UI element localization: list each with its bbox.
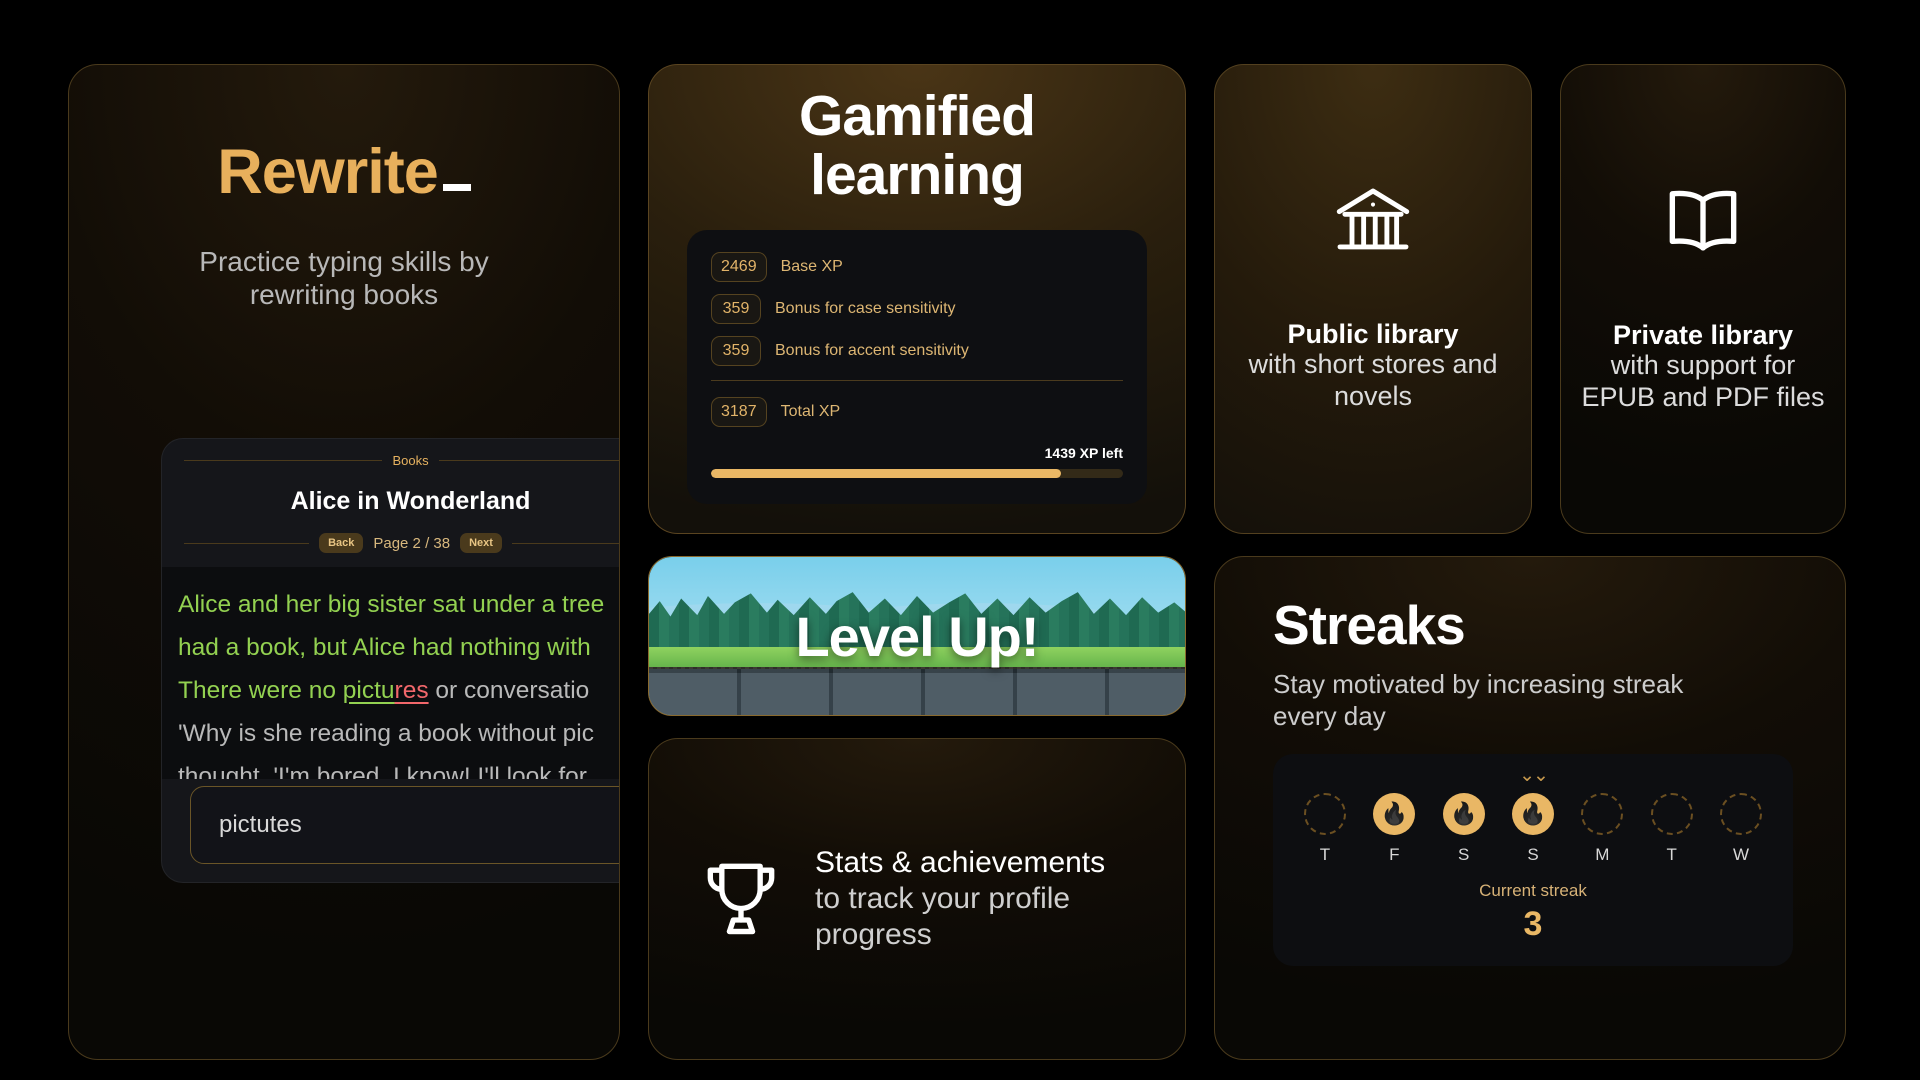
level-up-banner: Level Up! bbox=[648, 556, 1186, 716]
private-library-title: Private library bbox=[1613, 320, 1793, 350]
stats-title: Stats & achievements bbox=[815, 845, 1145, 881]
reader-line: 'Why is she reading a book without pic bbox=[178, 712, 620, 755]
stats-subtitle: to track your profile progress bbox=[815, 881, 1145, 953]
streak-day[interactable]: 🔥S bbox=[1438, 793, 1490, 865]
streak-day-label: F bbox=[1368, 845, 1420, 865]
private-library-subtitle: with support for EPUB and PDF files bbox=[1579, 350, 1827, 414]
hero-tagline: Practice typing skills by rewriting book… bbox=[144, 246, 544, 312]
xp-row: 359Bonus for accent sensitivity bbox=[711, 336, 1123, 366]
streak-day-inactive bbox=[1581, 793, 1623, 835]
private-library-card[interactable]: Private library with support for EPUB an… bbox=[1560, 64, 1846, 534]
streak-day-active: 🔥 bbox=[1443, 793, 1485, 835]
reader-token-error-underline: res bbox=[395, 677, 429, 704]
reader-line: Alice and her big sister sat under a tre… bbox=[178, 583, 620, 626]
streaks-content: Streaks Stay motivated by increasing str… bbox=[1215, 557, 1845, 966]
rail-line-left bbox=[184, 460, 382, 461]
reader-rail-label: Books bbox=[392, 453, 428, 468]
private-library-content: Private library with support for EPUB an… bbox=[1561, 65, 1845, 533]
reader-nav: Back Page 2 / 38 Next bbox=[162, 533, 620, 553]
page-indicator: Page 2 / 38 bbox=[373, 535, 450, 552]
xp-total-row: 3187 Total XP bbox=[711, 397, 1123, 427]
stats-text: Stats & achievements to track your profi… bbox=[815, 845, 1145, 953]
xp-breakdown-panel: 2469Base XP359Bonus for case sensitivity… bbox=[687, 230, 1147, 504]
xp-value: 359 bbox=[711, 294, 761, 324]
reader-token-pending: thought. 'I'm bored. I know! I'll look f… bbox=[178, 763, 587, 779]
public-library-content: Public library with short stores and nov… bbox=[1215, 65, 1531, 533]
page-root: Rewrite Practice typing skills by rewrit… bbox=[0, 0, 1920, 1080]
reader-line: had a book, but Alice had nothing with bbox=[178, 626, 620, 669]
streaks-subtitle: Stay motivated by increasing streak ever… bbox=[1273, 669, 1713, 732]
streaks-card: Streaks Stay motivated by increasing str… bbox=[1214, 556, 1846, 1060]
xp-total-label: Total XP bbox=[781, 403, 841, 421]
typing-input[interactable]: pictutes bbox=[190, 786, 620, 864]
current-streak-label: Current streak bbox=[1299, 881, 1767, 901]
streak-day[interactable]: 🔥S bbox=[1507, 793, 1559, 865]
reader-token-correct-underline: pictu bbox=[343, 677, 395, 704]
trophy-icon bbox=[695, 851, 787, 948]
text-cursor-icon bbox=[443, 184, 471, 191]
streak-day[interactable]: W bbox=[1715, 793, 1767, 865]
reader-rail-wrap: Books bbox=[162, 439, 620, 468]
level-up-text: Level Up! bbox=[649, 557, 1185, 715]
xp-left-label: 1439 XP left bbox=[711, 445, 1123, 461]
reader-token-correct: There were no bbox=[178, 677, 343, 704]
rail-line-right bbox=[439, 460, 620, 461]
flame-icon: 🔥 bbox=[1519, 803, 1546, 825]
streak-day[interactable]: M bbox=[1576, 793, 1628, 865]
xp-value: 359 bbox=[711, 336, 761, 366]
reader-rail: Books bbox=[184, 453, 620, 468]
feature-grid: Rewrite Practice typing skills by rewrit… bbox=[68, 64, 1852, 1016]
hero-card: Rewrite Practice typing skills by rewrit… bbox=[68, 64, 620, 1060]
streak-day[interactable]: T bbox=[1646, 793, 1698, 865]
xp-label: Bonus for case sensitivity bbox=[775, 300, 956, 318]
streak-panel: ⌄⌄ T🔥F🔥S🔥SMTW Current streak 3 bbox=[1273, 754, 1793, 966]
nav-line-right bbox=[512, 543, 620, 544]
streak-day[interactable]: T bbox=[1299, 793, 1351, 865]
streak-day-inactive bbox=[1304, 793, 1346, 835]
reader-line: thought. 'I'm bored. I know! I'll look f… bbox=[178, 755, 620, 779]
streak-day-label: S bbox=[1507, 845, 1559, 865]
reader-text-body: Alice and her big sister sat under a tre… bbox=[162, 567, 620, 779]
flame-icon: 🔥 bbox=[1450, 803, 1477, 825]
streak-day-label: T bbox=[1299, 845, 1351, 865]
xp-rows: 2469Base XP359Bonus for case sensitivity… bbox=[711, 252, 1123, 366]
xp-divider bbox=[711, 380, 1123, 381]
current-streak-value: 3 bbox=[1299, 905, 1767, 944]
reader-preview: Books Alice in Wonderland Back Page 2 / … bbox=[161, 438, 620, 883]
open-book-icon bbox=[1657, 175, 1749, 272]
streak-day-label: S bbox=[1438, 845, 1490, 865]
xp-progress-bar bbox=[711, 469, 1123, 478]
xp-progress-fill bbox=[711, 469, 1061, 478]
reader-token-pending: 'Why is she reading a book without pic bbox=[178, 720, 594, 747]
xp-label: Base XP bbox=[781, 258, 843, 276]
app-logo: Rewrite bbox=[217, 141, 471, 204]
xp-row: 359Bonus for case sensitivity bbox=[711, 294, 1123, 324]
reader-token-pending: or conversatio bbox=[429, 677, 590, 704]
xp-value: 2469 bbox=[711, 252, 767, 282]
chevron-double-down-icon[interactable]: ⌄⌄ bbox=[1299, 766, 1767, 785]
book-title: Alice in Wonderland bbox=[162, 487, 620, 516]
gamified-content: Gamified learning 2469Base XP359Bonus fo… bbox=[649, 65, 1185, 504]
stats-card: Stats & achievements to track your profi… bbox=[648, 738, 1186, 1060]
back-button[interactable]: Back bbox=[319, 533, 363, 553]
streaks-title: Streaks bbox=[1273, 593, 1793, 657]
gamified-card: Gamified learning 2469Base XP359Bonus fo… bbox=[648, 64, 1186, 534]
streak-day-inactive bbox=[1720, 793, 1762, 835]
app-name: Rewrite bbox=[217, 137, 438, 207]
streak-day-inactive bbox=[1651, 793, 1693, 835]
public-library-subtitle: with short stores and novels bbox=[1233, 349, 1513, 413]
reader-line: There were no pictures or conversatio bbox=[178, 669, 620, 712]
streak-days: T🔥F🔥S🔥SMTW bbox=[1299, 793, 1767, 865]
xp-total-value: 3187 bbox=[711, 397, 767, 427]
public-library-card[interactable]: Public library with short stores and nov… bbox=[1214, 64, 1532, 534]
stats-content: Stats & achievements to track your profi… bbox=[649, 739, 1185, 1059]
public-library-title: Public library bbox=[1287, 319, 1458, 349]
bank-columns-icon bbox=[1328, 176, 1418, 271]
flame-icon: 🔥 bbox=[1381, 803, 1408, 825]
reader-token-correct: had a book, but Alice had nothing with bbox=[178, 634, 591, 661]
streak-day-label: M bbox=[1576, 845, 1628, 865]
reader-token-correct: Alice and her big sister sat under a tre… bbox=[178, 591, 604, 618]
streak-day[interactable]: 🔥F bbox=[1368, 793, 1420, 865]
streak-day-label: T bbox=[1646, 845, 1698, 865]
xp-label: Bonus for accent sensitivity bbox=[775, 342, 969, 360]
typing-input-value: pictutes bbox=[219, 811, 302, 839]
xp-row: 2469Base XP bbox=[711, 252, 1123, 282]
streak-day-active: 🔥 bbox=[1373, 793, 1415, 835]
nav-line-left bbox=[184, 543, 309, 544]
gamified-title: Gamified learning bbox=[687, 87, 1147, 204]
next-button[interactable]: Next bbox=[460, 533, 502, 553]
streak-day-label: W bbox=[1715, 845, 1767, 865]
streak-day-active: 🔥 bbox=[1512, 793, 1554, 835]
